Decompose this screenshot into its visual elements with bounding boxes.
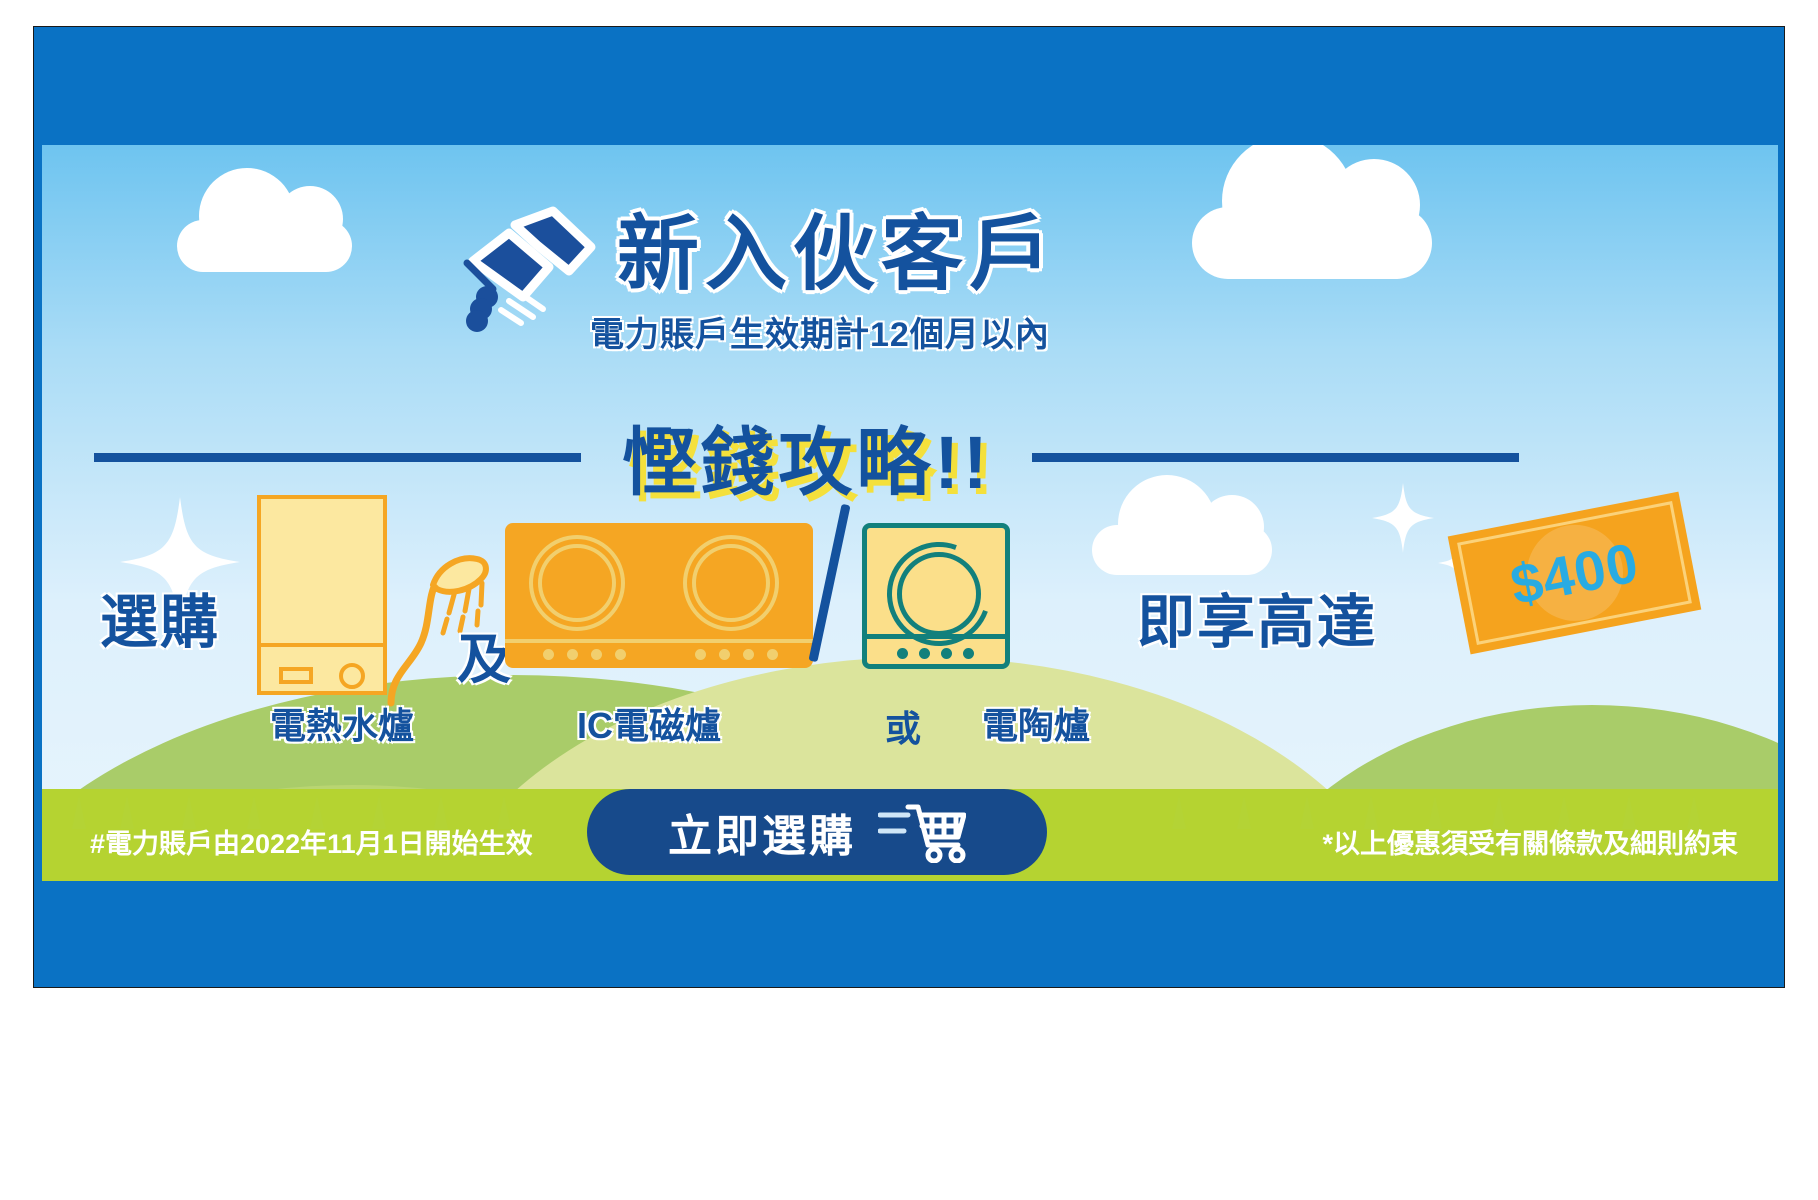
shop-now-label: 立即選購: [668, 800, 856, 864]
divider-rule-right: [1032, 453, 1519, 462]
shop-now-button[interactable]: 立即選購: [587, 789, 1047, 875]
and-label: 及: [457, 615, 511, 694]
handshake-icon: [457, 205, 607, 335]
banner-stage: 新入伙客戶 電力賬戶生效期計12個月以內 慳錢攻略!! 選購: [42, 145, 1778, 881]
page-subtitle: 電力賬戶生效期計12個月以內: [590, 307, 1050, 356]
footnote-left: #電力賬戶由2022年11月1日開始生效: [90, 822, 533, 861]
grass-blade-icon: [1300, 795, 1314, 829]
separator-slash: [808, 504, 850, 662]
ceramic-hob-icon: [862, 523, 1010, 669]
slogan-row: 慳錢攻略!!: [42, 407, 1778, 503]
cloud-icon: [177, 220, 352, 272]
page-title: 新入伙客戶: [617, 187, 1057, 306]
water-heater-icon: [257, 495, 387, 695]
product-caption-water-heater: 電熱水爐: [270, 697, 414, 749]
product-caption-induction-cooker: IC電磁爐: [577, 697, 721, 749]
cloud-icon: [1092, 525, 1272, 575]
cloud-icon: [1192, 207, 1432, 279]
grass-blade-icon: [1172, 795, 1186, 829]
grass-blade-icon: [1237, 795, 1251, 829]
divider-rule-left: [94, 453, 581, 462]
slogan-text: 慳錢攻略!!: [582, 403, 1032, 510]
choose-label: 選購: [100, 575, 220, 659]
money-note-icon: $400: [1448, 492, 1702, 655]
offer-amount: $400: [1448, 492, 1702, 655]
induction-cooker-icon: [505, 523, 813, 668]
promo-banner: 新入伙客戶 電力賬戶生效期計12個月以內 慳錢攻略!! 選購: [33, 26, 1785, 988]
shopping-cart-icon: [878, 801, 966, 863]
footnote-right: *以上優惠須受有關條款及細則約束: [1322, 822, 1738, 861]
upto-label: 即享高達: [1137, 575, 1377, 659]
sparkle-icon: [1372, 483, 1434, 553]
product-caption-ceramic-hob: 電陶爐: [982, 697, 1090, 749]
grass-blade-icon: [72, 795, 86, 829]
or-label: 或: [885, 700, 921, 752]
